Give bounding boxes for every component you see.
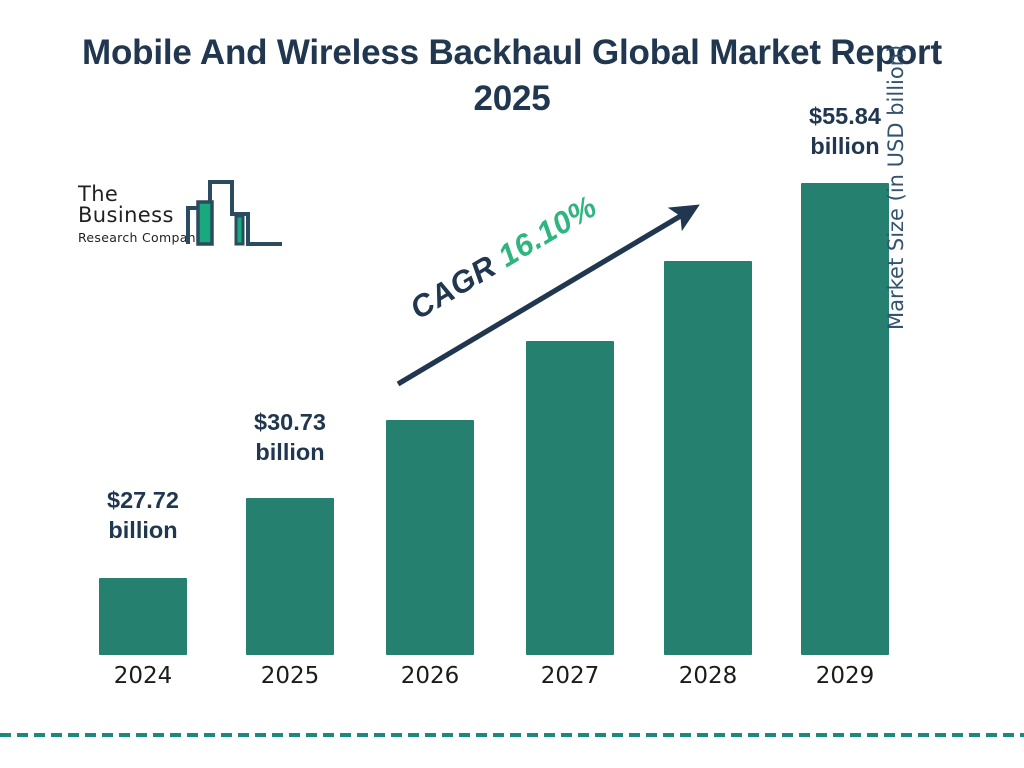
- cagr-value: 16.10%: [492, 189, 603, 274]
- chart-canvas: Mobile And Wireless Backhaul Global Mark…: [0, 0, 1024, 768]
- company-logo: The Business Research Company: [78, 172, 283, 250]
- bar-2026: [386, 420, 474, 655]
- bottom-divider: [0, 733, 1024, 737]
- bar-2029: [801, 183, 889, 655]
- value-label-2024: $27.72 billion: [73, 485, 213, 545]
- y-axis-title: Market Size (in USD billion): [884, 0, 908, 330]
- bar-chart-logo-mark: [186, 172, 286, 255]
- value-label-2024-amount: $27.72: [73, 485, 213, 515]
- xtick-2027: 2027: [526, 663, 614, 689]
- xtick-2026: 2026: [386, 663, 474, 689]
- value-label-2025-unit: billion: [220, 437, 360, 467]
- bar-2027: [526, 341, 614, 655]
- bar-2024: [99, 578, 187, 655]
- value-label-2025: $30.73 billion: [220, 407, 360, 467]
- xtick-2028: 2028: [664, 663, 752, 689]
- cagr-label: CAGR: [404, 248, 502, 326]
- bar-2028: [664, 261, 752, 655]
- xtick-2025: 2025: [246, 663, 334, 689]
- xtick-2029: 2029: [801, 663, 889, 689]
- value-label-2025-amount: $30.73: [220, 407, 360, 437]
- value-label-2024-unit: billion: [73, 515, 213, 545]
- xtick-2024: 2024: [99, 663, 187, 689]
- cagr-annotation: CAGR16.10%: [404, 189, 603, 327]
- bar-2025: [246, 498, 334, 655]
